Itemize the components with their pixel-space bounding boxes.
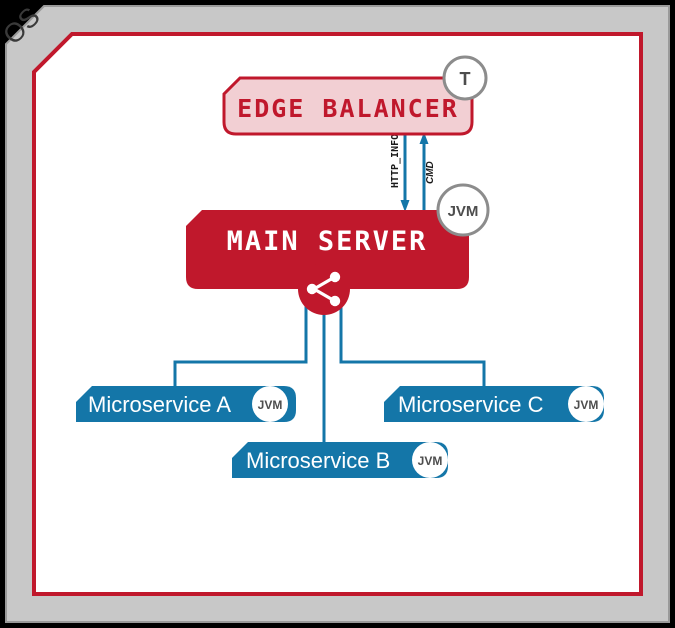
badge-jvm-microservice-b: JVM — [412, 442, 448, 478]
share-node-left — [307, 284, 317, 294]
connector-label-http-info: HTTP_INFO — [390, 134, 401, 188]
edge-balancer-label: EDGE BALANCER — [237, 94, 459, 123]
microservice-c-label: Microservice C — [398, 392, 544, 417]
share-node-bottom-right — [330, 296, 340, 306]
architecture-diagram: OS HTTP_INFO CMD — [0, 0, 675, 628]
badge-jvm-microservice-c-label: JVM — [574, 398, 599, 412]
badge-jvm-main-server: JVM — [438, 185, 488, 235]
connector-label-cmd: CMD — [425, 161, 436, 184]
diagram-canvas: OS HTTP_INFO CMD — [0, 0, 675, 628]
badge-jvm-main-server-label: JVM — [448, 203, 479, 220]
main-server-label: MAIN SERVER — [227, 226, 428, 257]
microservice-b-label: Microservice B — [246, 448, 390, 473]
badge-t-label: T — [460, 69, 471, 89]
badge-jvm-microservice-a-label: JVM — [258, 398, 283, 412]
badge-jvm-microservice-a: JVM — [252, 386, 288, 422]
node-edge-balancer[interactable]: EDGE BALANCER — [224, 78, 472, 134]
microservice-a-label: Microservice A — [88, 392, 231, 417]
badge-jvm-microservice-c: JVM — [568, 386, 604, 422]
share-network-icon[interactable] — [298, 263, 350, 315]
badge-jvm-microservice-b-label: JVM — [418, 454, 443, 468]
share-node-top-right — [330, 272, 340, 282]
badge-t: T — [444, 57, 486, 99]
share-network-icon-circle — [298, 263, 350, 315]
